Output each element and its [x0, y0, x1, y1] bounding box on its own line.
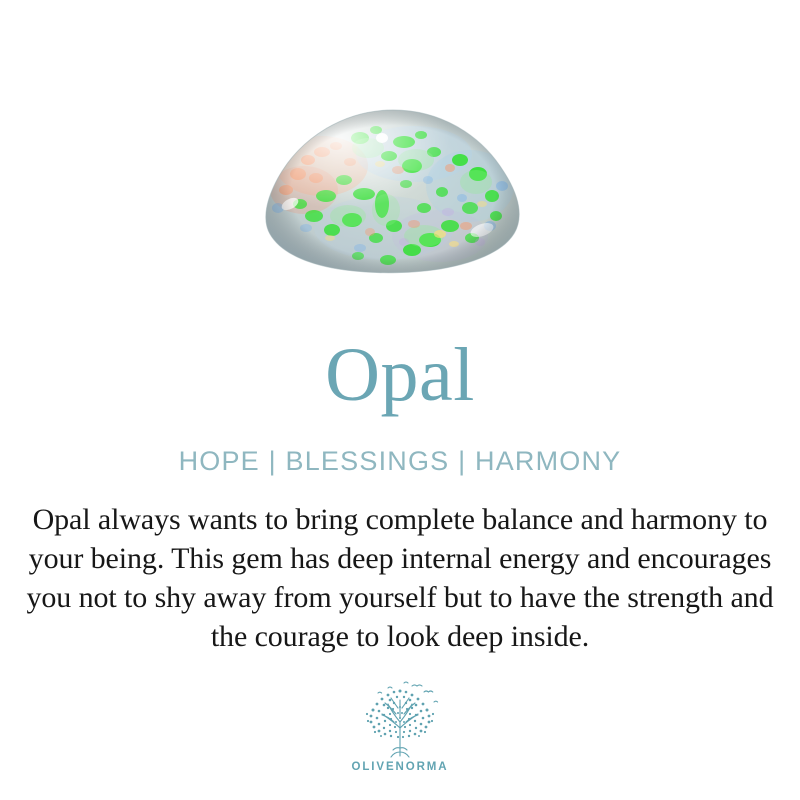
opal-cabochon-icon	[264, 108, 522, 276]
gem-keywords: HOPE | BLESSINGS | HARMONY	[0, 444, 800, 478]
gemstone-info-card: Opal HOPE | BLESSINGS | HARMONY Opal alw…	[0, 0, 800, 800]
brand-logo: OLIVENORMA	[0, 678, 800, 773]
tree-logo-icon	[352, 678, 448, 760]
opal-gemstone-image	[264, 108, 522, 276]
gem-description: Opal always wants to bring complete bala…	[18, 500, 782, 656]
brand-wordmark: OLIVENORMA	[352, 761, 449, 773]
page-title: Opal	[0, 332, 800, 418]
